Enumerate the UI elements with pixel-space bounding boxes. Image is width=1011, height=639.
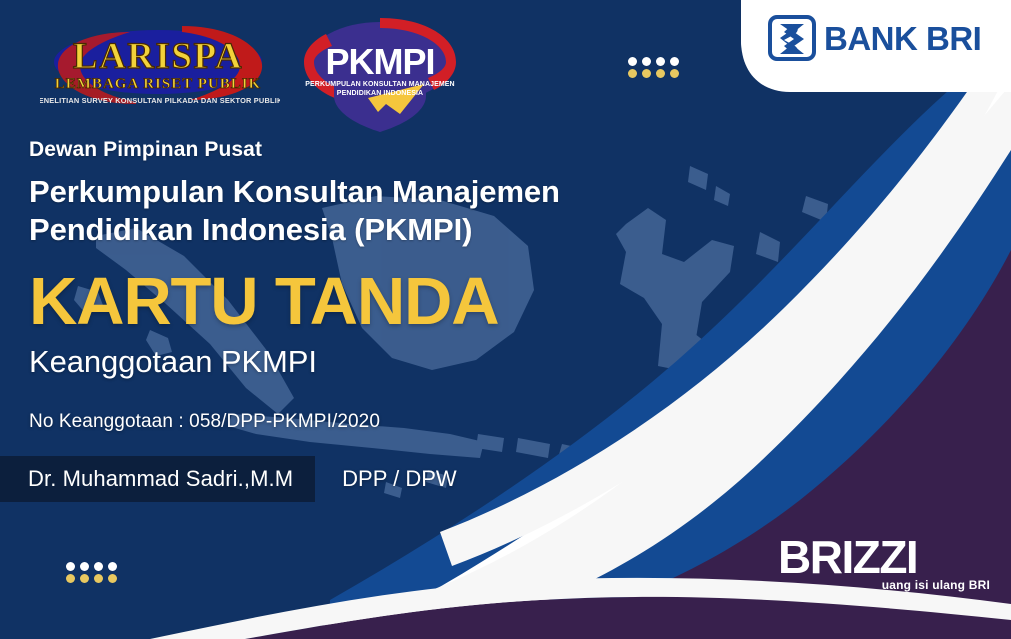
- holder-name-box: Dr. Muhammad Sadri.,M.M: [0, 456, 315, 502]
- membership-card: LARISPA LEMBAGA RISET PUBLIK PENELITIAN …: [0, 0, 1011, 639]
- card-subtitle: Keanggotaan PKMPI: [29, 344, 729, 380]
- organization-line-1: Perkumpulan Konsultan Manajemen: [29, 173, 729, 211]
- svg-text:LARISPA: LARISPA: [73, 36, 243, 77]
- svg-text:BRIZZI: BRIZZI: [778, 533, 917, 583]
- holder-name: Dr. Muhammad Sadri.,M.M: [28, 466, 293, 492]
- svg-text:LEMBAGA RISET PUBLIK: LEMBAGA RISET PUBLIK: [55, 76, 261, 92]
- organization-line-2: Pendidikan Indonesia (PKMPI): [29, 211, 729, 249]
- svg-text:PKMPI: PKMPI: [325, 41, 434, 82]
- dot-cluster-top: [628, 57, 679, 78]
- member-number: No Keanggotaan : 058/DPP-PKMPI/2020: [29, 411, 729, 433]
- council-line: Dewan Pimpinan Pusat: [29, 138, 729, 162]
- larispa-logo: LARISPA LEMBAGA RISET PUBLIK PENELITIAN …: [40, 24, 280, 110]
- dot-cluster-bottom: [66, 562, 117, 583]
- brizzi-logo: BRIZZI uang isi ulang BRI: [776, 533, 992, 595]
- svg-text:BANK BRI: BANK BRI: [824, 20, 981, 57]
- holder-role: DPP / DPW: [342, 466, 457, 492]
- svg-text:PENELITIAN SURVEY KONSULTAN PI: PENELITIAN SURVEY KONSULTAN PILKADA DAN …: [40, 96, 280, 105]
- pkmpi-logo: PKMPI PERKUMPULAN KONSULTAN MANAJEMEN PE…: [294, 12, 466, 134]
- svg-text:PERKUMPULAN KONSULTAN MANAJEME: PERKUMPULAN KONSULTAN MANAJEMEN: [305, 81, 454, 88]
- card-text-block: Dewan Pimpinan Pusat Perkumpulan Konsult…: [29, 138, 729, 433]
- svg-text:uang isi ulang BRI: uang isi ulang BRI: [882, 578, 990, 592]
- card-title: KARTU TANDA: [29, 268, 729, 335]
- svg-text:PENDIDIKAN INDONESIA: PENDIDIKAN INDONESIA: [337, 90, 423, 97]
- holder-strip: Dr. Muhammad Sadri.,M.M DPP / DPW: [0, 456, 457, 502]
- bank-bri-logo: BANK BRI: [768, 14, 1000, 62]
